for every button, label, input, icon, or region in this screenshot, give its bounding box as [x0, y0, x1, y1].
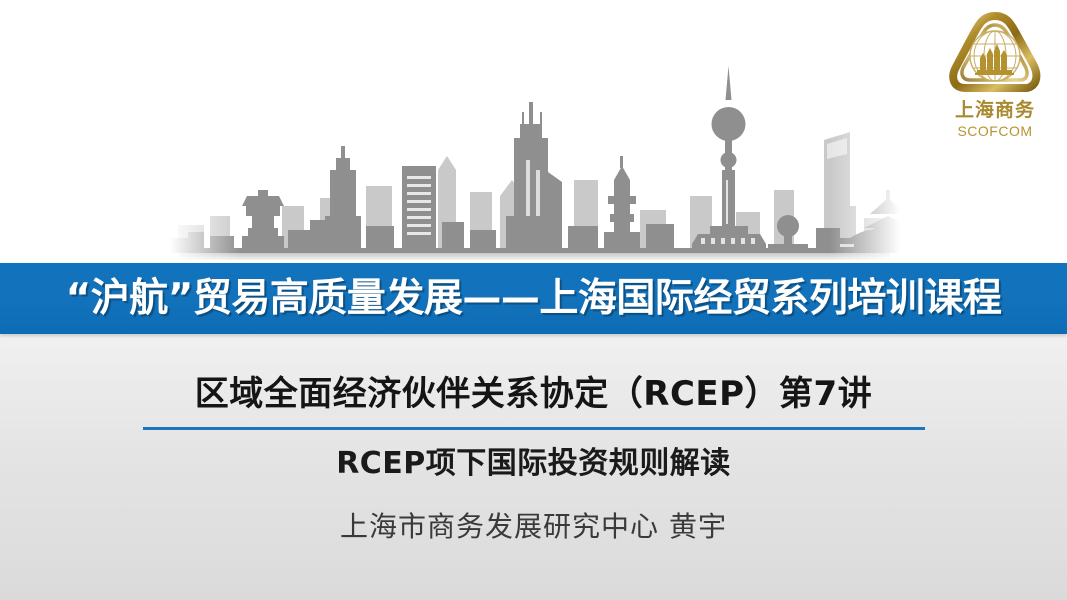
scofcom-triangle-globe-icon	[945, 8, 1045, 100]
banner-title-text: “沪航”贸易高质量发展——上海国际经贸系列培训课程	[0, 263, 1067, 334]
hero-stage: 上海商务 SCOFCOM	[0, 0, 1067, 263]
scofcom-logo: 上海商务 SCOFCOM	[935, 8, 1055, 140]
course-series-line: 区域全面经济伙伴关系协定（RCEP）第7讲	[0, 366, 1067, 415]
presenter-line: 上海市商务发展研究中心 黄宇	[0, 505, 1067, 545]
topic-title-line: RCEP项下国际投资规则解读	[0, 438, 1067, 482]
logo-name-en: SCOFCOM	[935, 123, 1055, 139]
shanghai-skyline-icon	[170, 20, 900, 260]
logo-name-cn: 上海商务	[935, 101, 1055, 121]
title-banner: “沪航”贸易高质量发展——上海国际经贸系列培训课程	[0, 263, 1067, 334]
title-divider	[143, 427, 925, 430]
title-slide: 上海商务 SCOFCOM “沪航”贸易高质量发展——上海国际经贸系列培训课程 区…	[0, 0, 1067, 600]
